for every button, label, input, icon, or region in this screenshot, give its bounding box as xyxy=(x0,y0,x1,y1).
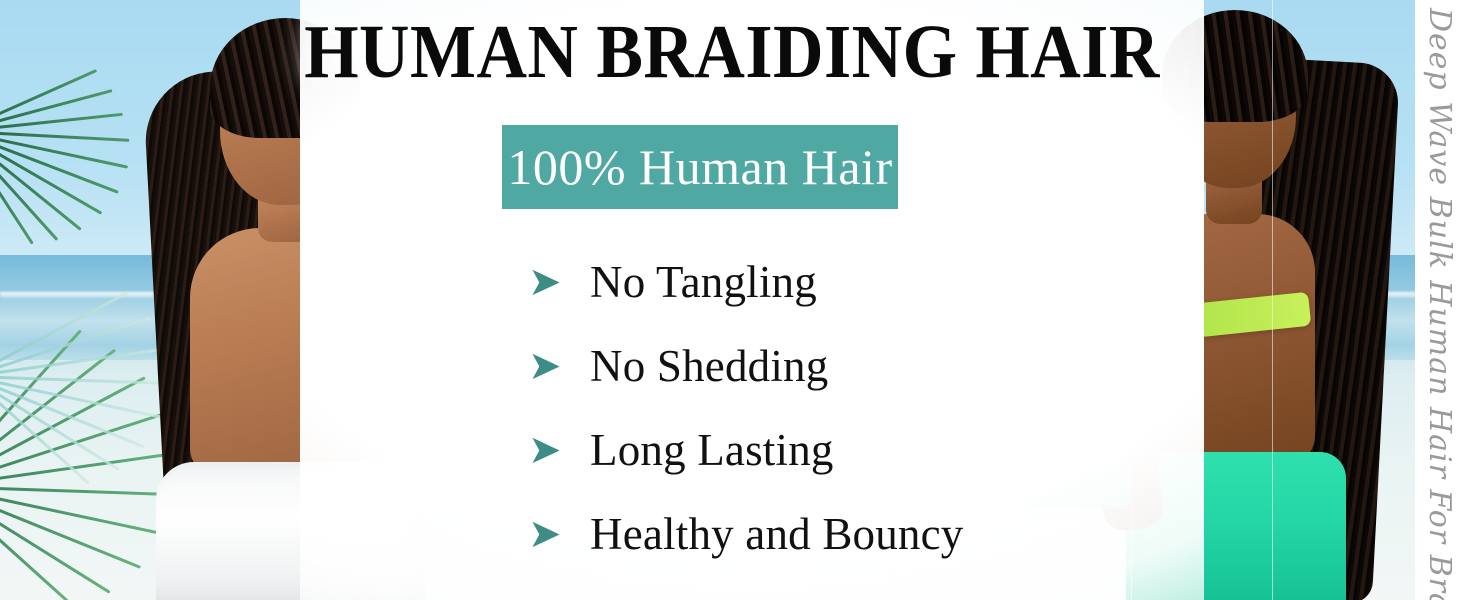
list-item: ➤ Healthy and Bouncy xyxy=(528,492,1048,576)
arrow-bullet-icon: ➤ xyxy=(528,262,590,302)
feature-label: No Tangling xyxy=(590,260,817,305)
list-item: ➤ No Tangling xyxy=(528,240,1048,324)
product-banner: HUMAN BRAIDING HAIR 100% Human Hair ➤ No… xyxy=(0,0,1464,600)
arrow-bullet-icon: ➤ xyxy=(528,430,590,470)
status-badge: 100% Human Hair xyxy=(502,125,898,209)
list-item: ➤ No Shedding xyxy=(528,324,1048,408)
feature-label: Healthy and Bouncy xyxy=(590,512,964,557)
badge-label: 100% Human Hair xyxy=(507,142,892,192)
arrow-bullet-icon: ➤ xyxy=(528,514,590,554)
arrow-bullet-icon: ➤ xyxy=(528,346,590,386)
list-item: ➤ Long Lasting xyxy=(528,408,1048,492)
photo-seam xyxy=(1272,0,1273,600)
feature-label: No Shedding xyxy=(590,344,828,389)
feature-list: ➤ No Tangling ➤ No Shedding ➤ Long Lasti… xyxy=(528,240,1048,576)
page-title: HUMAN BRAIDING HAIR xyxy=(59,14,1406,90)
side-caption-text: Deep Wave Bulk Human Hair For Braiding xyxy=(1422,0,1457,600)
feature-label: Long Lasting xyxy=(590,428,834,473)
side-caption-strip: Deep Wave Bulk Human Hair For Braiding xyxy=(1415,0,1464,600)
